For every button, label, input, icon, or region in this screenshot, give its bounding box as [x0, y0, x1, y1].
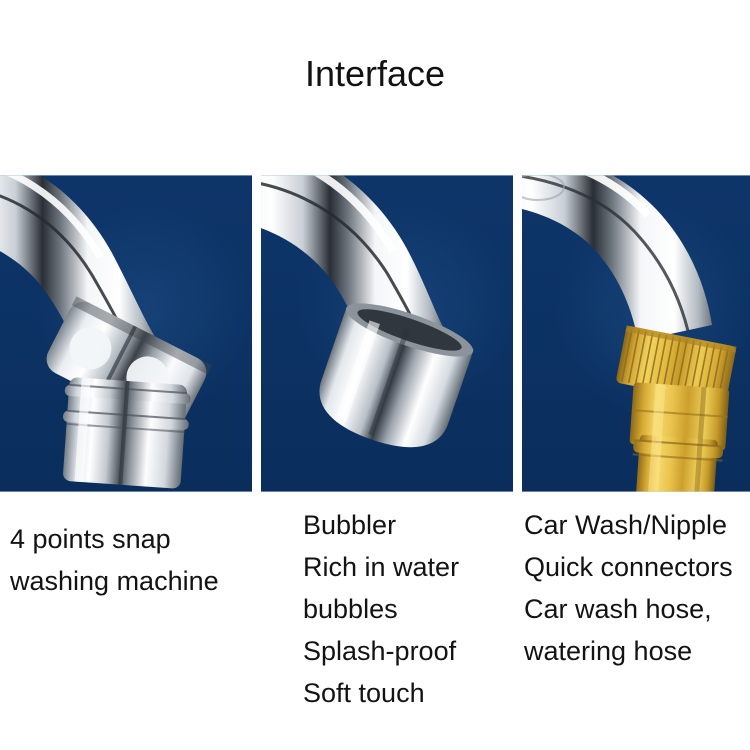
caption-line: 4 points snap — [10, 518, 219, 560]
product-infographic: Interface — [0, 0, 750, 750]
panel-divider-2 — [513, 175, 522, 492]
caption-line: washing machine — [10, 560, 219, 602]
chrome-faucet-snap-connector-icon — [0, 175, 252, 492]
caption-line: watering hose — [524, 630, 733, 672]
product-panel-snap[interactable] — [0, 175, 252, 492]
chrome-faucet-brass-quick-connector-icon — [522, 175, 750, 492]
caption-line: Quick connectors — [524, 546, 733, 588]
caption-line: Car wash hose, — [524, 588, 733, 630]
caption-snap: 4 points snap washing machine — [10, 518, 219, 602]
caption-bubbler: Bubbler Rich in water bubbles Splash-pro… — [303, 504, 459, 714]
panel-divider-1 — [252, 175, 261, 492]
caption-line: Bubbler — [303, 504, 459, 546]
chrome-faucet-bubbler-aerator-icon — [261, 175, 513, 492]
caption-line: bubbles — [303, 588, 459, 630]
caption-group: 4 points snap washing machine Bubbler Ri… — [0, 498, 750, 750]
caption-carwash: Car Wash/Nipple Quick connectors Car was… — [524, 504, 733, 672]
caption-line: Soft touch — [303, 672, 459, 714]
product-panel-carwash[interactable] — [522, 175, 750, 492]
caption-line: Rich in water — [303, 546, 459, 588]
caption-line: Car Wash/Nipple — [524, 504, 733, 546]
caption-line: Splash-proof — [303, 630, 459, 672]
product-image-strip — [0, 175, 750, 492]
page-title: Interface — [0, 52, 750, 96]
product-panel-bubbler[interactable] — [261, 175, 513, 492]
